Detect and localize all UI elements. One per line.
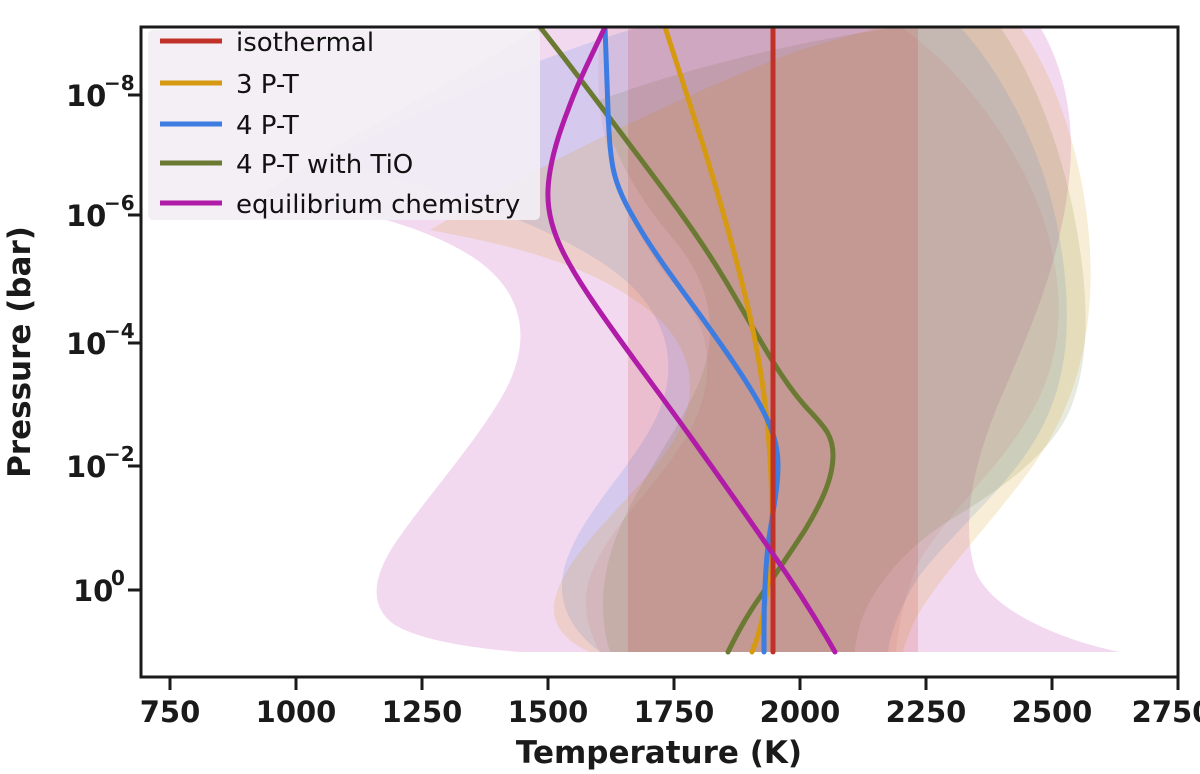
svg-text:−6: −6 xyxy=(104,191,135,215)
svg-text:10: 10 xyxy=(66,450,106,484)
legend-label-equilibrium-chemistry: equilibrium chemistry xyxy=(236,190,520,220)
x-axis-label: Temperature (K) xyxy=(516,735,802,771)
y-axis-label: Pressure (bar) xyxy=(2,226,38,478)
legend-label-isothermal: isothermal xyxy=(236,28,374,58)
xtick-1750: 1750 xyxy=(634,695,715,729)
svg-text:0: 0 xyxy=(111,566,125,590)
xtick-1000: 1000 xyxy=(256,695,337,729)
legend[interactable]: isothermal 3 P-T 4 P-T 4 P-T with TiO eq… xyxy=(148,28,540,220)
legend-label-3pt: 3 P-T xyxy=(236,70,299,100)
pressure-temperature-figure: 750 1000 1250 1500 1750 2000 2250 2500 2… xyxy=(0,0,1200,774)
svg-text:−2: −2 xyxy=(104,442,135,466)
xtick-2000: 2000 xyxy=(760,695,841,729)
xtick-1500: 1500 xyxy=(508,695,589,729)
xtick-2250: 2250 xyxy=(886,695,967,729)
legend-label-4pt-with-tio: 4 P-T with TiO xyxy=(236,150,413,180)
svg-text:−8: −8 xyxy=(104,71,135,95)
xtick-1250: 1250 xyxy=(382,695,463,729)
legend-label-4pt: 4 P-T xyxy=(236,111,299,141)
xtick-750: 750 xyxy=(140,695,201,729)
svg-text:10: 10 xyxy=(73,574,113,608)
xtick-2500: 2500 xyxy=(1012,695,1093,729)
chart-canvas: 750 1000 1250 1500 1750 2000 2250 2500 2… xyxy=(0,0,1200,774)
svg-text:10: 10 xyxy=(66,199,106,233)
svg-text:−4: −4 xyxy=(104,319,135,343)
x-tick-labels: 750 1000 1250 1500 1750 2000 2250 2500 2… xyxy=(140,695,1200,729)
xtick-2750: 2750 xyxy=(1132,695,1200,729)
svg-text:10: 10 xyxy=(66,327,106,361)
svg-text:10: 10 xyxy=(66,79,106,113)
